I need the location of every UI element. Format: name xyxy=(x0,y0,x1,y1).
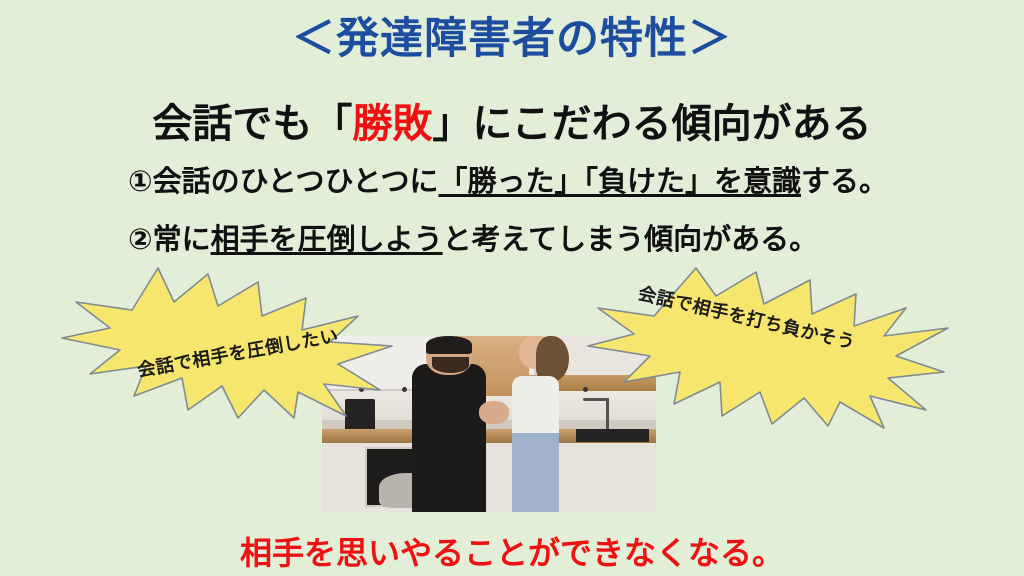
photo-man-body xyxy=(412,364,485,512)
bullet-text-1-after: する。 xyxy=(801,164,888,198)
bullet-marker-2: ② xyxy=(128,222,153,256)
page-title: ＜発達障害者の特性＞ xyxy=(0,16,1024,63)
speech-burst-left: 会話で相手を圧倒したい xyxy=(62,268,392,418)
conclusion-text: 相手を思いやることができなくなる。 xyxy=(0,528,1024,574)
bullet-text-1-underlined: 「勝った」「負けた」を意識 xyxy=(439,164,802,198)
photo-woman-jeans xyxy=(512,433,559,512)
main-heading-highlight: 勝敗 xyxy=(352,101,432,147)
photo-man-hand xyxy=(479,401,509,424)
bullet-text-2-before: 常に xyxy=(153,222,211,256)
main-heading-before: 会話でも「 xyxy=(152,101,352,147)
photo-man-hair xyxy=(426,336,473,354)
main-heading-after: 」にこだわる傾向がある xyxy=(432,101,871,147)
bullet-text-1-before: 会話のひとつひとつに xyxy=(153,164,439,198)
bullet-text-2-underlined: 相手を圧倒しよう xyxy=(211,222,443,256)
photo-man-beard xyxy=(432,357,469,373)
photo-sink xyxy=(576,429,649,441)
photo-cabinet-knob xyxy=(583,387,588,392)
bullet-text-2-after: と考えてしまう傾向がある。 xyxy=(443,222,819,256)
slide-canvas: ＜発達障害者の特性＞ 会話でも「勝敗」にこだわる傾向がある ①会話のひとつひとつ… xyxy=(0,0,1024,576)
bullet-point-1: ①会話のひとつひとつに「勝った」「負けた」を意識する。 xyxy=(128,164,888,199)
photo-woman-hair xyxy=(536,336,569,382)
main-heading: 会話でも「勝敗」にこだわる傾向がある xyxy=(0,101,1024,147)
speech-burst-right: 会話で相手を打ち負かそう xyxy=(588,268,948,428)
bullet-point-2: ②常に相手を圧倒しようと考えてしまう傾向がある。 xyxy=(128,222,818,257)
bullet-marker-1: ① xyxy=(128,164,153,198)
